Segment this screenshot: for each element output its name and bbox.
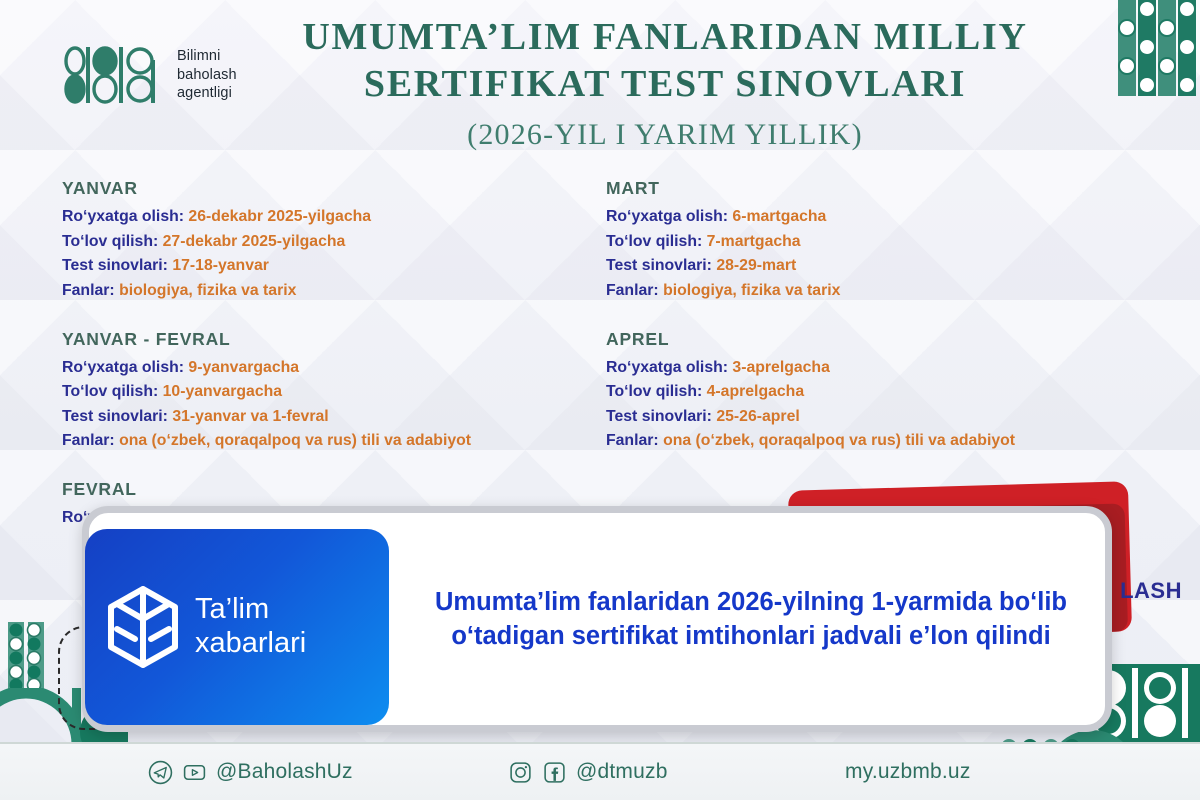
row-value: 3-aprelgacha [732, 359, 829, 376]
row-label: Test sinovlari: [606, 408, 712, 425]
row-label: Fanlar: [606, 282, 659, 299]
row-value: 26-dekabr 2025-yilgacha [188, 208, 371, 225]
schedule-month-heading: FEVRAL [62, 479, 622, 500]
footer-website-link[interactable]: my.uzbmb.uz [845, 760, 971, 784]
footer-handle-baholashuz[interactable]: @BaholashUz [216, 760, 353, 784]
page-title-line-1: UMUMTA’LIM FANLARIDAN MILLIY [250, 14, 1080, 61]
schedule-column-right: MARTRo‘yxatga olish: 6-martgachaTo‘lov q… [606, 178, 1166, 479]
poster-footer: @BaholashUz @dtmuzb my.uzbmb.uz [0, 742, 1200, 800]
talim-xabarlari-brand-badge[interactable]: Ta’lim xabarlari [85, 529, 389, 725]
row-value: ona (o‘zbek, qoraqalpoq va rus) tili va … [663, 432, 1015, 449]
row-value: biologiya, fizika va tarix [119, 282, 296, 299]
row-label: To‘lov qilish: [62, 383, 158, 400]
row-value: 10-yanvargacha [163, 383, 282, 400]
row-value: 9-yanvargacha [188, 359, 299, 376]
row-label: To‘lov qilish: [606, 383, 702, 400]
youtube-icon[interactable] [182, 760, 207, 785]
row-value: 7-martgacha [707, 233, 801, 250]
row-value: 4-aprelgacha [707, 383, 804, 400]
schedule-month-heading: MART [606, 178, 1166, 199]
poster-canvas: LASH [0, 0, 1200, 800]
row-label: Test sinovlari: [62, 257, 168, 274]
page-subtitle: (2026-YIL I YARIM YILLIK) [250, 118, 1080, 152]
schedule-block: YANVAR - FEVRALRo‘yxatga olish: 9-yanvar… [62, 329, 622, 455]
facebook-icon[interactable] [542, 760, 567, 785]
telegram-icon[interactable] [148, 760, 173, 785]
logo-word-line-2: baholash [177, 66, 237, 85]
schedule-row-registration: Ro‘yxatga olish: 3-aprelgacha [606, 356, 1166, 381]
schedule-month-heading: APREL [606, 329, 1166, 350]
schedule-row-payment: To‘lov qilish: 27-dekabr 2025-yilgacha [62, 230, 622, 255]
row-label: Ro‘yxatga olish: [606, 208, 728, 225]
brand-line-2: xabarlari [195, 627, 306, 661]
bba-logo-mark [62, 44, 166, 106]
row-label: Test sinovlari: [606, 257, 712, 274]
page-title-line-2: SERTIFIKAT TEST SINOVLARI [250, 61, 1080, 108]
footer-social-group-instagram-facebook[interactable]: @dtmuzb [508, 760, 668, 785]
row-value: 31-yanvar va 1-fevral [172, 408, 328, 425]
row-label: Fanlar: [606, 432, 659, 449]
schedule-row-payment: To‘lov qilish: 7-martgacha [606, 230, 1166, 255]
row-value: biologiya, fizika va tarix [663, 282, 840, 299]
schedule-row-tests: Test sinovlari: 28-29-mart [606, 254, 1166, 279]
schedule-block: YANVARRo‘yxatga olish: 26-dekabr 2025-yi… [62, 178, 622, 304]
bba-logo-wordmark: Bilimni baholash agentligi [177, 47, 237, 103]
schedule-block: APRELRo‘yxatga olish: 3-aprelgachaTo‘lov… [606, 329, 1166, 455]
schedule-row-payment: To‘lov qilish: 10-yanvargacha [62, 380, 622, 405]
row-value: 17-18-yanvar [172, 257, 269, 274]
row-label: Ro‘yxatga olish: [62, 208, 184, 225]
schedule-row-tests: Test sinovlari: 31-yanvar va 1-fevral [62, 405, 622, 430]
schedule-row-subjects: Fanlar: ona (o‘zbek, qoraqalpoq va rus) … [62, 429, 622, 454]
poster-title-block: UMUMTA’LIM FANLARIDAN MILLIY SERTIFIKAT … [250, 14, 1080, 152]
cube-outline-icon [105, 585, 181, 669]
schedule-month-heading: YANVAR - FEVRAL [62, 329, 622, 350]
obscured-branding-text: LASH [1120, 578, 1182, 604]
news-overlay-card[interactable]: Ta’lim xabarlari Umumta’lim fanlaridan 2… [82, 506, 1112, 732]
schedule-month-heading: YANVAR [62, 178, 622, 199]
row-value: 28-29-mart [716, 257, 796, 274]
footer-social-group-telegram-youtube[interactable]: @BaholashUz [148, 760, 353, 785]
brand-badge-text: Ta’lim xabarlari [195, 593, 306, 660]
row-value: ona (o‘zbek, qoraqalpoq va rus) tili va … [119, 432, 471, 449]
logo-word-line-3: agentligi [177, 84, 237, 103]
footer-handle-dtmuzb[interactable]: @dtmuzb [576, 760, 668, 784]
news-headline: Umumta’lim fanlaridan 2026-yilning 1-yar… [419, 513, 1083, 725]
schedule-column-left: YANVARRo‘yxatga olish: 26-dekabr 2025-yi… [62, 178, 622, 556]
schedule-row-registration: Ro‘yxatga olish: 26-dekabr 2025-yilgacha [62, 205, 622, 230]
row-label: To‘lov qilish: [62, 233, 158, 250]
row-label: Test sinovlari: [62, 408, 168, 425]
row-value: 25-26-aprel [716, 408, 799, 425]
bba-logo: Bilimni baholash agentligi [62, 44, 237, 106]
brand-line-1: Ta’lim [195, 593, 306, 627]
footer-website-url[interactable]: my.uzbmb.uz [845, 760, 971, 784]
row-label: Fanlar: [62, 282, 115, 299]
instagram-icon[interactable] [508, 760, 533, 785]
schedule-row-subjects: Fanlar: biologiya, fizika va tarix [62, 279, 622, 304]
schedule-row-registration: Ro‘yxatga olish: 6-martgacha [606, 205, 1166, 230]
decor-circle-grid-bottom-left [6, 622, 46, 692]
schedule-row-subjects: Fanlar: biologiya, fizika va tarix [606, 279, 1166, 304]
row-label: Ro‘yxatga olish: [606, 359, 728, 376]
row-label: To‘lov qilish: [606, 233, 702, 250]
schedule-row-tests: Test sinovlari: 17-18-yanvar [62, 254, 622, 279]
schedule-row-subjects: Fanlar: ona (o‘zbek, qoraqalpoq va rus) … [606, 429, 1166, 454]
row-label: Ro‘yxatga olish: [62, 359, 184, 376]
schedule-row-payment: To‘lov qilish: 4-aprelgacha [606, 380, 1166, 405]
schedule-row-tests: Test sinovlari: 25-26-aprel [606, 405, 1166, 430]
poster-header: Bilimni baholash agentligi UMUMTA’LIM FA… [0, 0, 1200, 170]
row-label: Fanlar: [62, 432, 115, 449]
row-value: 27-dekabr 2025-yilgacha [163, 233, 346, 250]
schedule-row-registration: Ro‘yxatga olish: 9-yanvargacha [62, 356, 622, 381]
row-value: 6-martgacha [732, 208, 826, 225]
logo-word-line-1: Bilimni [177, 47, 237, 66]
schedule-block: MARTRo‘yxatga olish: 6-martgachaTo‘lov q… [606, 178, 1166, 304]
